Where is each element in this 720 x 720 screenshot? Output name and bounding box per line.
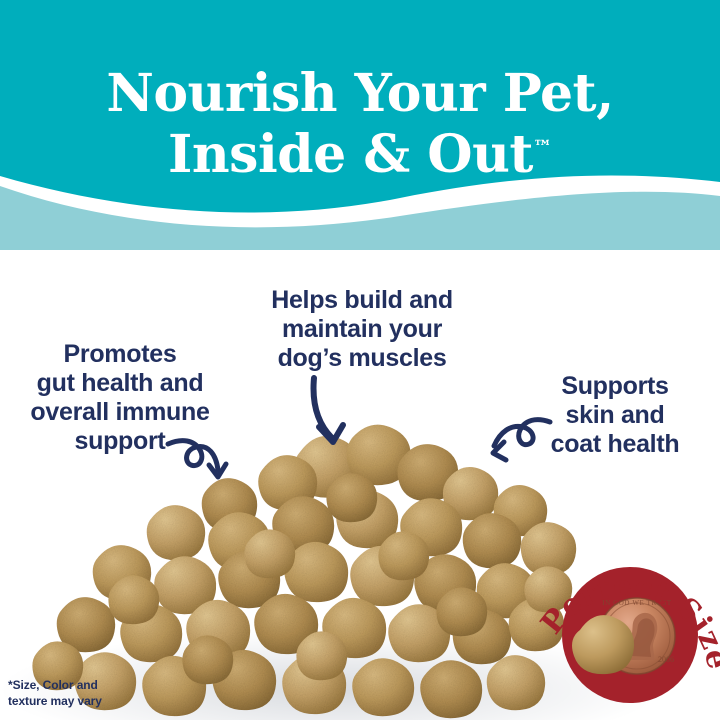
disclaimer-line-2: texture may vary	[8, 694, 102, 710]
kibble-piece	[453, 609, 511, 664]
callout-line: Helps build and	[252, 286, 472, 315]
callout-line: overall immune	[8, 398, 232, 427]
kibble-piece	[443, 467, 498, 520]
kibble-piece	[487, 655, 545, 710]
product-feature-graphic: Nourish Your Pet, Inside & Out™	[0, 0, 720, 720]
perfect-size-badge: IN GOD WE TRUST 2006 Perfect Size!	[540, 520, 720, 720]
callout-line: Promotes	[8, 340, 232, 369]
kibble-piece	[208, 512, 270, 570]
kibble-piece	[142, 656, 206, 716]
kibble-piece	[414, 554, 476, 612]
kibble-piece	[212, 650, 276, 710]
kibble-piece	[477, 563, 535, 618]
kibble-piece	[93, 545, 151, 600]
kibble-piece	[463, 513, 521, 568]
kibble-piece	[397, 444, 458, 501]
kibble-piece	[186, 600, 250, 660]
kibble-piece	[282, 654, 346, 714]
page-title: Nourish Your Pet, Inside & Out™	[0, 63, 720, 186]
curly-arrow-down-right-icon	[166, 432, 236, 494]
kibble-piece	[120, 604, 182, 662]
kibble-piece	[258, 455, 317, 510]
kibble-piece	[218, 550, 280, 608]
kibble-piece	[284, 542, 348, 602]
size-disclaimer: *Size, Color and texture may vary	[8, 678, 102, 709]
coin-year: 2006	[658, 655, 674, 664]
callout-line: maintain your	[252, 315, 472, 344]
kibble-piece	[350, 546, 414, 606]
disclaimer-line-1: *Size, Color and	[8, 678, 102, 694]
kibble-piece	[436, 587, 487, 636]
headline-line-2-wrap: Inside & Out™	[0, 124, 720, 185]
headline-line-2: Inside & Out	[168, 124, 533, 185]
kibble-piece	[388, 604, 450, 662]
callout-line: dog’s muscles	[252, 344, 472, 373]
kibble-piece	[147, 505, 205, 560]
kibble-piece	[322, 598, 386, 658]
kibble-piece	[352, 658, 414, 716]
kibble-piece	[326, 473, 377, 522]
kibble-piece	[378, 531, 429, 580]
kibble-piece	[57, 597, 115, 652]
callout-line: Supports	[522, 372, 708, 401]
kibble-piece	[336, 490, 398, 548]
kibble-piece	[154, 556, 216, 614]
kibble-piece	[244, 529, 295, 578]
curly-arrow-down-left-icon	[486, 416, 552, 470]
kibble-piece	[420, 660, 482, 718]
kibble-piece	[182, 635, 233, 684]
kibble-piece	[254, 594, 318, 654]
kibble-piece	[296, 631, 347, 680]
curved-arrow-down-icon	[306, 374, 362, 454]
kibble-piece	[108, 575, 159, 624]
headline-line-1: Nourish Your Pet,	[0, 63, 720, 124]
callout-muscles: Helps build and maintain your dog’s musc…	[252, 286, 472, 373]
kibble-piece	[400, 498, 462, 556]
trademark-symbol: ™	[533, 137, 552, 159]
callout-line: gut health and	[8, 369, 232, 398]
kibble-piece	[272, 496, 334, 554]
